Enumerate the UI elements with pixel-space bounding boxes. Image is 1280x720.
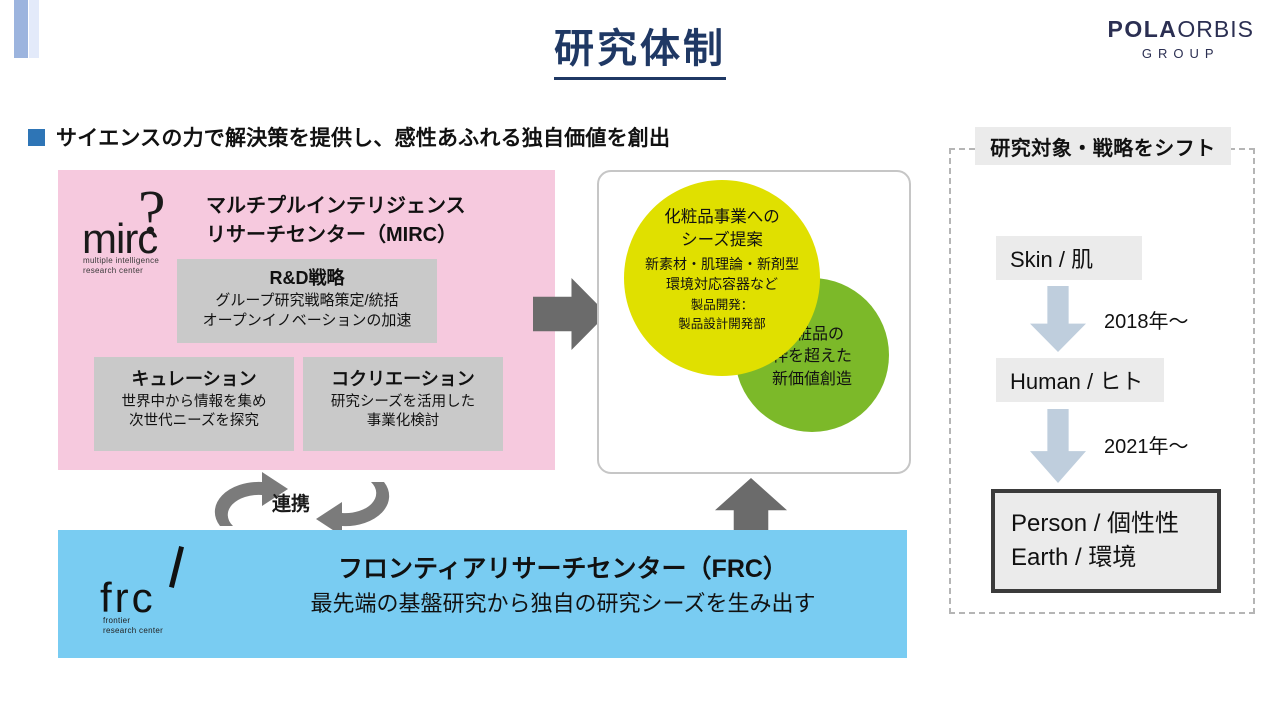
rd-strategy-line2: オープンイノベーションの加速 [177,311,437,331]
frc-logo-subtitle-line1: frontier [103,616,163,626]
frc-logo-subtitle-line2: research center [103,626,163,636]
frc-text-block: フロンティアリサーチセンター（FRC） 最先端の基盤研究から独自の研究シーズを生… [233,552,893,619]
curation-heading: キュレーション [94,366,294,393]
frc-subtitle: 最先端の基盤研究から独自の研究シーズを生み出す [233,589,893,620]
subtitle-row: サイエンスの力で解決策を提供し、感性あふれる独自価値を創出 [28,122,670,152]
green-circle-line3: 新価値創造 [735,369,889,391]
shift-step-human: Human / ヒト [996,358,1164,402]
shift-year-2021: 2021年～ [1104,430,1189,459]
rd-strategy-line1: グループ研究戦略策定/統括 [177,291,437,311]
frc-logo-word: frc [100,577,156,619]
shift-step-person-label: Person / 個性性 [1011,507,1179,541]
mirc-logo-subtitle: multiple intelligence research center [83,256,159,276]
mirc-logo-subtitle-line1: multiple intelligence [83,256,159,266]
square-bullet-icon [28,129,45,146]
frc-panel: frc frontier research center フロンティアリサーチセ… [58,530,907,658]
brand-logo: POLAORBIS GROUP [1108,16,1254,61]
brand-logo-line1: POLAORBIS [1108,16,1254,43]
yellow-circle-body-line4: 製品設計開発部 [624,316,820,332]
rd-strategy-box: R&D戦略 グループ研究戦略策定/統括 オープンイノベーションの加速 [177,259,437,343]
cocreation-box: コクリエーション 研究シーズを活用した 事業化検討 [303,357,503,451]
frc-logo-subtitle: frontier research center [103,616,163,637]
yellow-circle-body-line2: 環境対応容器など [624,275,820,294]
collaboration-label: 連携 [272,489,310,516]
shift-step-skin: Skin / 肌 [996,236,1142,280]
mirc-title-line1: マルチプルインテリジェンス [206,192,466,221]
yellow-circle: 化粧品事業への シーズ提案 新素材・肌理論・新剤型 環境対応容器など 製品開発：… [624,180,820,376]
slash-icon [169,546,184,588]
mirc-panel: ? mirc multiple intelligence research ce… [58,170,555,470]
subtitle-text: サイエンスの力で解決策を提供し、感性あふれる独自価値を創出 [56,122,670,152]
mirc-logo-word: mirc [82,218,157,260]
frc-logo: frc frontier research center [100,544,208,644]
cocreation-line1: 研究シーズを活用した [303,393,503,412]
mirc-title-line2: リサーチセンター（MIRC） [206,221,466,250]
yellow-circle-title-line1: 化粧品事業への [624,206,820,229]
mirc-logo-subtitle-line2: research center [83,266,159,276]
frc-title: フロンティアリサーチセンター（FRC） [233,552,893,587]
shift-panel-header: 研究対象・戦略をシフト [975,127,1231,165]
rd-strategy-heading: R&D戦略 [177,266,437,291]
shift-year-2018: 2018年～ [1104,305,1189,334]
mirc-title: マルチプルインテリジェンス リサーチセンター（MIRC） [206,192,466,250]
page-title-text: 研究体制 [554,16,726,80]
brand-pola-text: POLA [1108,16,1178,42]
yellow-circle-body-line1: 新素材・肌理論・新剤型 [624,255,820,274]
shift-step-human-label: Human / ヒト [1010,364,1143,396]
page-title: 研究体制 [0,16,1280,80]
yellow-circle-title-line2: シーズ提案 [624,229,820,252]
curation-box: キュレーション 世界中から情報を集め 次世代ニーズを探究 [94,357,294,451]
curation-line2: 次世代ニーズを探究 [94,412,294,431]
cocreation-heading: コクリエーション [303,366,503,393]
shift-step-person-earth: Person / 個性性 Earth / 環境 [991,489,1221,593]
output-circles-panel: 化粧品の 枠を超えた 新価値創造 化粧品事業への シーズ提案 新素材・肌理論・新… [597,170,911,474]
brand-orbis-text: ORBIS [1177,16,1254,42]
brand-group-text: GROUP [1108,46,1254,61]
yellow-circle-body-line3: 製品開発： [624,297,820,313]
cocreation-line2: 事業化検討 [303,412,503,431]
shift-step-earth-label: Earth / 環境 [1011,541,1136,575]
curation-line1: 世界中から情報を集め [94,393,294,412]
shift-step-skin-label: Skin / 肌 [1010,242,1093,274]
